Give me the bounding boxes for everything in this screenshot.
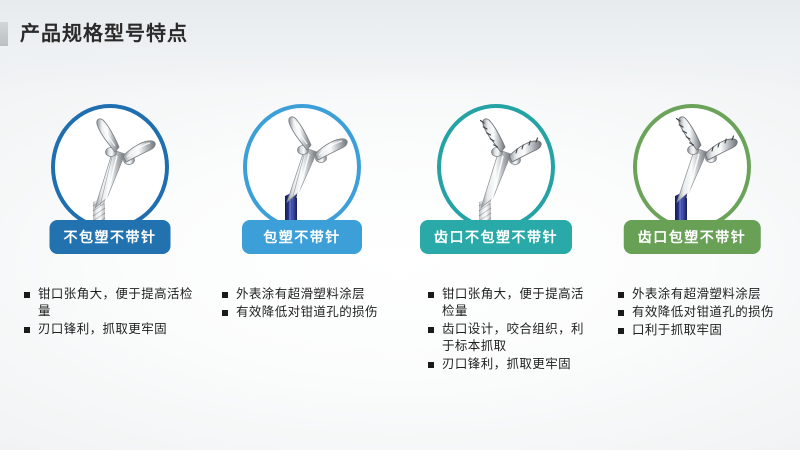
feature-bullet: 外表涂有超滑塑料涂层 (618, 286, 790, 303)
bullet-square-icon (428, 327, 434, 333)
product-label[interactable]: 包塑不带针 (242, 220, 362, 254)
product-image-ring (243, 104, 361, 230)
product-card[interactable]: 包塑不带针 (202, 104, 402, 254)
product-image-ring (51, 104, 169, 230)
feature-bullet: 齿口设计，咬合组织，利于标本抓取 (428, 321, 596, 355)
bullet-square-icon (24, 327, 30, 333)
feature-bullet: 外表涂有超滑塑料涂层 (222, 286, 394, 303)
product-image (637, 108, 747, 226)
product-card[interactable]: 不包塑不带针 (10, 104, 210, 254)
biopsy-forceps-illustration (55, 112, 165, 226)
bullet-square-icon (222, 310, 228, 316)
feature-bullet-text: 齿口设计，咬合组织，利于标本抓取 (442, 321, 596, 355)
biopsy-forceps-illustration (637, 112, 747, 226)
feature-column: 钳口张角大，便于提高活检量 齿口设计，咬合组织，利于标本抓取 刃口锋利，抓取更牢… (428, 286, 596, 374)
bullet-square-icon (618, 310, 624, 316)
product-card[interactable]: 齿口不包塑不带针 (396, 104, 596, 254)
bullet-square-icon (222, 292, 228, 298)
feature-column: 外表涂有超滑塑料涂层 有效降低对钳道孔的损伤 (222, 286, 394, 322)
product-image (247, 108, 357, 226)
title-accent-bar (0, 22, 8, 46)
feature-columns: 钳口张角大，便于提高活检量 刃口锋利，抓取更牢固 外表涂有超滑塑料涂层 有效降低… (0, 286, 800, 406)
feature-bullet-text: 有效降低对钳道孔的损伤 (236, 304, 378, 321)
feature-bullet-text: 有效降低对钳道孔的损伤 (632, 304, 774, 321)
feature-bullet-text: 外表涂有超滑塑料涂层 (632, 286, 761, 303)
feature-bullet: 有效降低对钳道孔的损伤 (222, 304, 394, 321)
product-label[interactable]: 不包塑不带针 (50, 220, 171, 254)
page-title: 产品规格型号特点 (20, 22, 188, 46)
biopsy-forceps-illustration (247, 112, 357, 226)
product-image (55, 108, 165, 226)
product-label[interactable]: 齿口不包塑不带针 (420, 220, 572, 254)
product-image-ring (437, 104, 555, 230)
bullet-square-icon (428, 362, 434, 368)
bullet-square-icon (618, 292, 624, 298)
feature-bullet: 刃口锋利，抓取更牢固 (428, 356, 596, 373)
feature-bullet: 有效降低对钳道孔的损伤 (618, 304, 790, 321)
biopsy-forceps-illustration (441, 112, 551, 226)
feature-bullet-text: 刃口锋利，抓取更牢固 (38, 321, 167, 338)
feature-bullet: 钳口张角大，便于提高活检量 (428, 286, 596, 320)
product-label[interactable]: 齿口包塑不带针 (624, 220, 761, 254)
bullet-square-icon (24, 292, 30, 298)
product-card-row: 不包塑不带针 (0, 104, 800, 254)
product-image-ring (633, 104, 751, 230)
feature-bullet-text: 口利于抓取牢固 (632, 322, 722, 339)
feature-bullet-text: 钳口张角大，便于提高活检量 (442, 286, 596, 320)
bullet-square-icon (618, 328, 624, 334)
bullet-square-icon (428, 292, 434, 298)
feature-bullet: 刃口锋利，抓取更牢固 (24, 321, 202, 338)
slide-canvas: 产品规格型号特点 (0, 0, 800, 450)
product-card[interactable]: 齿口包塑不带针 (592, 104, 792, 254)
feature-bullet: 口利于抓取牢固 (618, 322, 790, 339)
feature-bullet: 钳口张角大，便于提高活检量 (24, 286, 202, 320)
slide-title-row: 产品规格型号特点 (0, 22, 188, 46)
feature-column: 外表涂有超滑塑料涂层 有效降低对钳道孔的损伤 口利于抓取牢固 (618, 286, 790, 340)
feature-bullet-text: 钳口张角大，便于提高活检量 (38, 286, 202, 320)
feature-column: 钳口张角大，便于提高活检量 刃口锋利，抓取更牢固 (24, 286, 202, 339)
feature-bullet-text: 外表涂有超滑塑料涂层 (236, 286, 365, 303)
feature-bullet-text: 刃口锋利，抓取更牢固 (442, 356, 571, 373)
product-image (441, 108, 551, 226)
